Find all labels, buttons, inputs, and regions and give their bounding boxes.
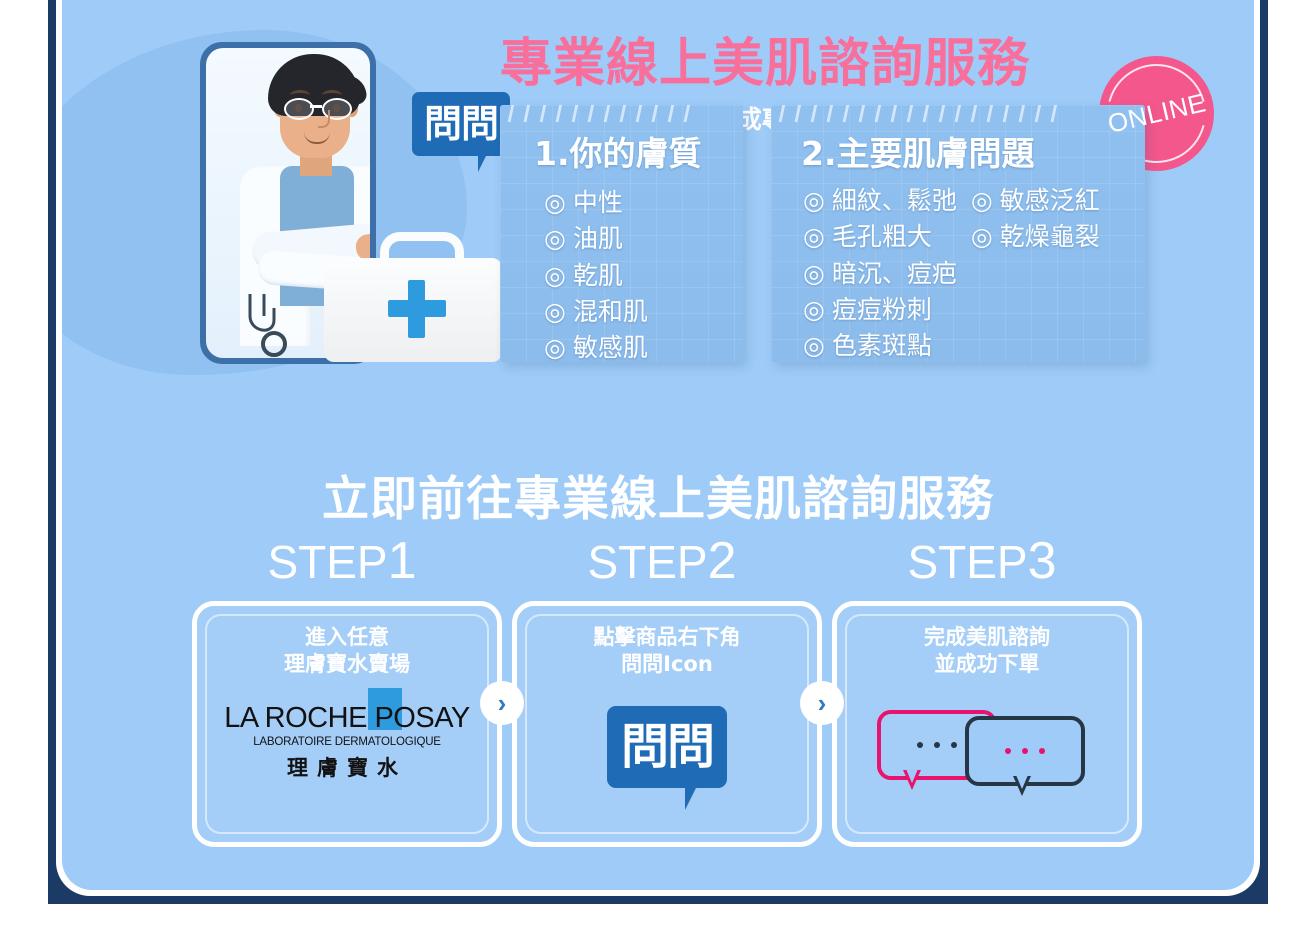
status-badge-label: ONLINE [1104, 87, 1208, 140]
notepad-card-heading: 2.主要肌膚問題 [771, 105, 1145, 175]
step-1-text: 進入任意 理膚寶水賣場 [197, 606, 497, 679]
notepad-card-skin-type: 1.你的膚質 ◎中性 ◎油肌 ◎乾肌 ◎混和肌 ◎敏感肌 [500, 105, 743, 362]
step-column-3: STEP3 完成美肌諮詢 並成功下單 [832, 535, 1132, 847]
bullet-icon: ◎ [803, 292, 825, 328]
list-item-label: 油肌 [573, 224, 623, 253]
list-item-label: 暗沉、痘疤 [832, 259, 957, 288]
list-item-label: 敏感泛紅 [1000, 186, 1100, 215]
skin-concern-columns: ◎細紋、鬆弛 ◎毛孔粗大 ◎暗沉、痘疤 ◎痘痘粉刺 ◎色素斑點 ◎敏感泛紅 ◎乾… [771, 175, 1145, 362]
step-2-text: 點擊商品右下角 問問Icon [517, 606, 817, 679]
step-2-card[interactable]: 點擊商品右下角 問問Icon 問問 [512, 601, 822, 847]
skin-concern-list-right: ◎敏感泛紅 ◎乾燥龜裂 [971, 183, 1100, 362]
step-2-label-number: 2 [708, 532, 737, 590]
step-1-label-prefix: STEP [267, 536, 387, 588]
list-item: ◎乾燥龜裂 [971, 219, 1100, 255]
logo-tagline: LABORATOIRE DERMATOLOGIQUE [224, 736, 470, 748]
step-column-1: STEP1 進入任意 理膚寶水賣場 LA ROCHE POSAY LABORAT… [192, 535, 492, 847]
bullet-icon: ◎ [803, 328, 825, 362]
main-panel: 問問 專業線上美肌諮詢服務 回傳2資訊，3步驟完成專屬美肌諮詢！ ONLINE … [62, 0, 1254, 890]
notepad-card-heading: 1.你的膚質 [500, 105, 743, 175]
logo-chinese-name: 理膚寶水 [224, 752, 470, 782]
step-2-label-prefix: STEP [587, 536, 707, 588]
step-column-2: STEP2 點擊商品右下角 問問Icon 問問 [512, 535, 812, 847]
glasses-bridge [310, 105, 322, 108]
step-2-line1: 點擊商品右下角 [517, 624, 817, 651]
step-1-line2: 理膚寶水賣場 [197, 651, 497, 678]
list-item: ◎毛孔粗大 [803, 219, 957, 255]
step-3-label-number: 3 [1028, 532, 1057, 590]
step-2-line2: 問問Icon [517, 651, 817, 678]
bullet-icon: ◎ [971, 219, 993, 255]
list-item: ◎色素斑點 [803, 328, 957, 362]
bullet-icon: ◎ [544, 221, 566, 257]
steps-section: STEP1 進入任意 理膚寶水賣場 LA ROCHE POSAY LABORAT… [192, 535, 1132, 865]
glasses-icon [284, 98, 348, 116]
list-item: ◎中性 [544, 185, 743, 221]
list-item: ◎混和肌 [544, 294, 743, 330]
step-arrow-2-icon: › [800, 681, 844, 725]
bullet-icon: ◎ [544, 330, 566, 362]
bullet-icon: ◎ [544, 258, 566, 294]
page-title: 專業線上美肌諮詢服務 [500, 38, 1120, 90]
list-item: ◎乾肌 [544, 258, 743, 294]
glasses-lens-left [284, 98, 314, 120]
step-3-label: STEP3 [832, 535, 1132, 587]
bullet-icon: ◎ [803, 219, 825, 255]
list-item-label: 乾燥龜裂 [1000, 222, 1100, 251]
list-item-label: 敏感肌 [573, 333, 648, 362]
step-1-label-number: 1 [388, 532, 417, 590]
chat-tail-pink [903, 770, 921, 790]
chat-bubbles-illustration [877, 710, 1097, 792]
list-item-label: 痘痘粉刺 [832, 295, 932, 324]
bullet-icon: ◎ [803, 183, 825, 219]
list-item: ◎敏感肌 [544, 330, 743, 362]
list-item: ◎細紋、鬆弛 [803, 183, 957, 219]
chat-tail-dark [1013, 776, 1031, 796]
logo-brand-name: LA ROCHE POSAY [224, 704, 470, 733]
list-item: ◎敏感泛紅 [971, 183, 1100, 219]
step-3-line2: 並成功下單 [837, 651, 1137, 678]
list-item-label: 乾肌 [573, 261, 623, 290]
wenwen-icon[interactable]: 問問 [607, 706, 727, 788]
step-3-label-prefix: STEP [907, 536, 1027, 588]
step-1-label: STEP1 [192, 535, 492, 587]
step-arrow-1-icon: › [480, 681, 524, 725]
wenwen-icon-label: 問問 [607, 706, 727, 788]
list-item-label: 細紋、鬆弛 [832, 186, 957, 215]
list-item-label: 毛孔粗大 [832, 222, 932, 251]
list-item: ◎痘痘粉刺 [803, 292, 957, 328]
step-3-text: 完成美肌諮詢 並成功下單 [837, 606, 1137, 679]
bullet-icon: ◎ [544, 294, 566, 330]
step-3-card[interactable]: 完成美肌諮詢 並成功下單 [832, 601, 1142, 847]
bullet-icon: ◎ [971, 183, 993, 219]
skin-concern-list-left: ◎細紋、鬆弛 ◎毛孔粗大 ◎暗沉、痘疤 ◎痘痘粉刺 ◎色素斑點 [803, 183, 957, 362]
list-item-label: 混和肌 [573, 297, 648, 326]
step-3-line1: 完成美肌諮詢 [837, 624, 1137, 651]
chat-bubble-dark-icon [965, 716, 1085, 786]
step-1-line1: 進入任意 [197, 624, 497, 651]
list-item: ◎暗沉、痘疤 [803, 256, 957, 292]
bullet-icon: ◎ [544, 185, 566, 221]
chat-dots-dark [969, 720, 1081, 782]
list-item-label: 色素斑點 [832, 331, 932, 360]
list-item: ◎油肌 [544, 221, 743, 257]
step-2-label: STEP2 [512, 535, 812, 587]
wenwen-chat-icon-label: 問問 [412, 92, 510, 156]
wenwen-chat-icon: 問問 [412, 92, 510, 156]
medical-cross-icon-vertical [408, 280, 425, 338]
notepad-card-skin-concerns: 2.主要肌膚問題 ◎細紋、鬆弛 ◎毛孔粗大 ◎暗沉、痘疤 ◎痘痘粉刺 ◎色素斑點… [771, 105, 1145, 362]
step-1-card[interactable]: 進入任意 理膚寶水賣場 LA ROCHE POSAY LABORATOIRE D… [192, 601, 502, 847]
stethoscope-icon [244, 292, 300, 358]
list-item-label: 中性 [573, 188, 623, 217]
la-roche-posay-logo: LA ROCHE POSAY LABORATOIRE DERMATOLOGIQU… [224, 704, 470, 782]
hero-section: 問問 專業線上美肌諮詢服務 回傳2資訊，3步驟完成專屬美肌諮詢！ ONLINE … [62, 0, 1254, 440]
bullet-icon: ◎ [803, 256, 825, 292]
skin-type-option-list: ◎中性 ◎油肌 ◎乾肌 ◎混和肌 ◎敏感肌 [500, 175, 743, 362]
cta-heading: 立即前往專業線上美肌諮詢服務 [62, 460, 1254, 529]
